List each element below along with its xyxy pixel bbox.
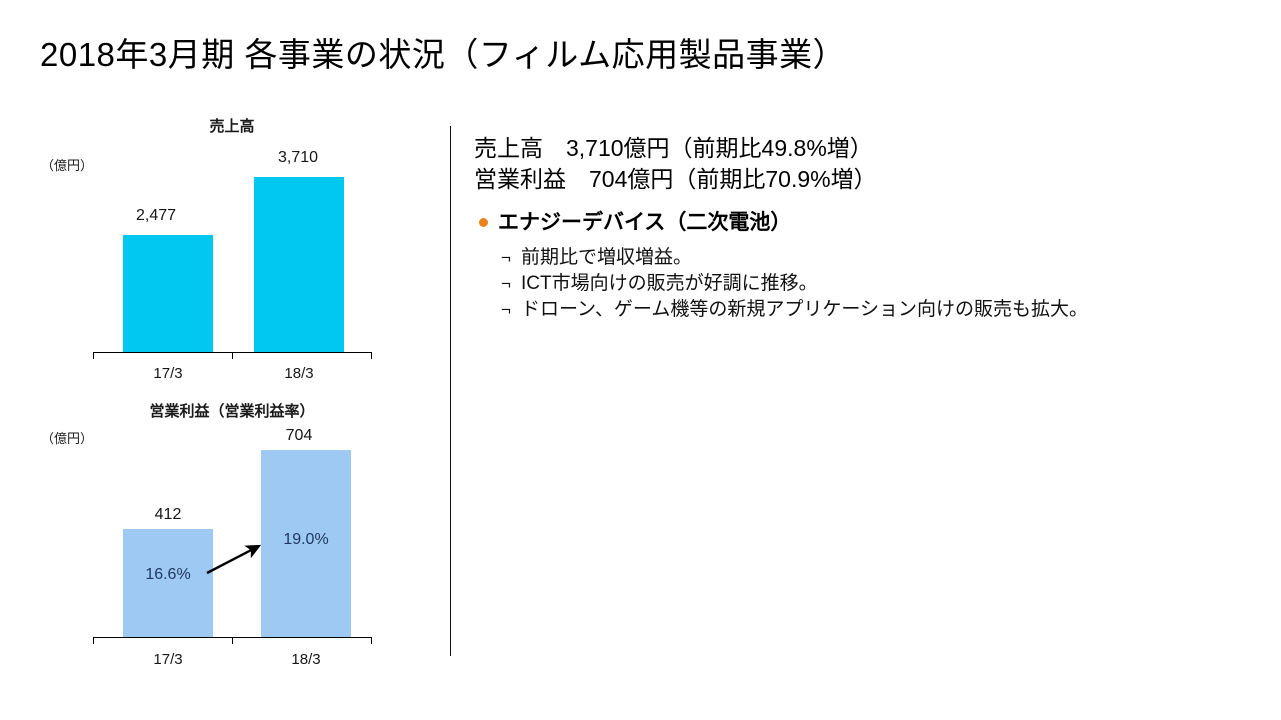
operating-income-bar-value-1: 704 [251,426,347,446]
sub-bullet-marker-icon-0: ¬ [501,245,511,271]
operating-income-category-0: 17/3 [118,650,218,670]
operating-income-unit-label: （億円） [41,430,93,448]
bullet-heading-energy-device: エナジーデバイス（二次電池） [498,209,791,237]
sub-bullet-marker-icon-1: ¬ [501,271,511,297]
sales-bar-18-3 [254,177,344,352]
sub-bullet-marker-icon-2: ¬ [501,297,511,323]
sales-category-1: 18/3 [249,364,349,384]
operating-income-category-1: 18/3 [256,650,356,670]
sales-category-0: 17/3 [118,364,218,384]
summary-line-sales: 売上高 3,710億円（前期比49.8%増） [474,133,873,164]
sub-bullet-0: 前期比で増収増益。 [521,245,692,271]
growth-arrow-icon [200,535,280,585]
sales-bar-17-3 [123,235,213,352]
slide-canvas: 2018年3月期 各事業の状況（フィルム応用製品事業） 売上高 （億円） 2,4… [0,0,1281,720]
page-title: 2018年3月期 各事業の状況（フィルム応用製品事業） [40,33,846,77]
sales-axis-tick-left [93,352,94,359]
sales-bar-value-0: 2,477 [108,206,204,226]
operating-income-bar-value-0: 412 [120,505,216,525]
operating-income-axis-tick-mid [232,637,233,644]
bullet-dot-icon [479,218,488,227]
operating-income-axis-tick-right [371,637,372,644]
operating-income-chart-title: 営業利益（営業利益率） [92,402,372,422]
sales-axis-tick-mid [232,352,233,359]
summary-line-operating-income: 営業利益 704億円（前期比70.9%増） [474,164,877,195]
sales-unit-label: （億円） [41,157,93,175]
sub-bullet-2: ドローン、ゲーム機等の新規アプリケーション向けの販売も拡大。 [521,297,1088,323]
sales-bar-value-1: 3,710 [250,148,346,168]
sales-axis-tick-right [371,352,372,359]
sales-chart-title: 売上高 [132,117,332,137]
sub-bullet-1: ICT市場向けの販売が好調に推移。 [521,271,818,297]
vertical-divider [450,126,451,656]
operating-income-axis-tick-left [93,637,94,644]
